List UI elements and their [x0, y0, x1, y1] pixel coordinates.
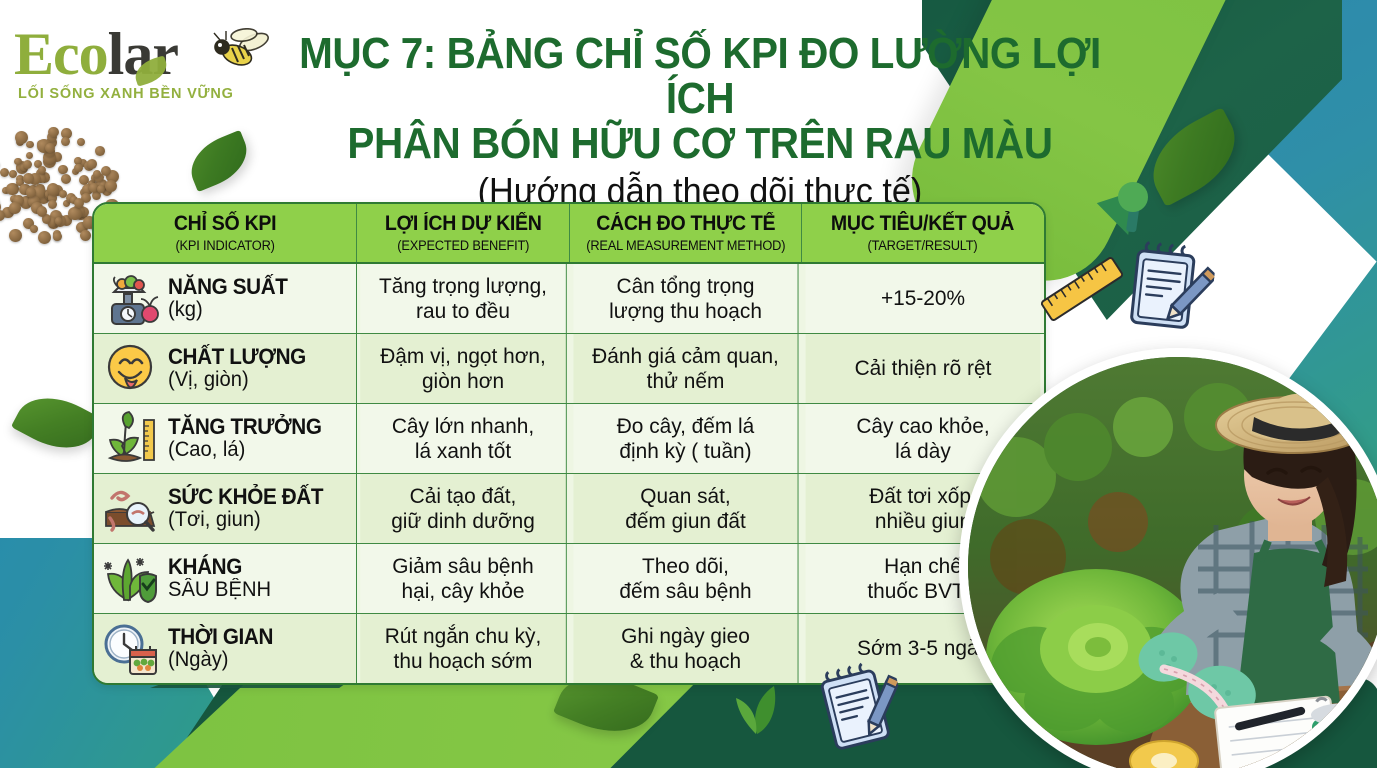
kpi-table: CHỈ SỐ KPI (KPI INDICATOR) LỢI ÍCH DỰ KI… [92, 202, 1046, 685]
column-header-kpi: CHỈ SỐ KPI (KPI INDICATOR) [94, 204, 357, 262]
scale-vegetables-icon [100, 270, 160, 328]
ruler-icon [1031, 243, 1133, 335]
target-cell: +15-20% [806, 264, 1041, 333]
page-title: MỤC 7: BẢNG CHỈ SỐ KPI ĐO LƯỜNG LỢI ÍCH … [250, 32, 1150, 210]
kpi-subtitle: (Tơi, giun) [168, 509, 326, 532]
benefit-cell: Rút ngắn chu kỳ, thu hoạch sớm [360, 614, 567, 683]
kpi-cell: NĂNG SUẤT(kg) [94, 264, 357, 333]
leaf-icon [182, 130, 255, 192]
table-row: NĂNG SUẤT(kg)Tăng trọng lượng, rau to đề… [94, 264, 1044, 334]
benefit-cell: Cải tạo đất, giữ dinh dưỡng [360, 474, 567, 543]
tasty-face-icon [100, 340, 160, 398]
column-header-sub: (TARGET/RESULT) [829, 238, 1016, 253]
title-line-2: PHÂN BÓN HỮU CƠ TRÊN RAU MÀU [286, 122, 1114, 167]
column-header-main: LỢI ÍCH DỰ KIẾN [385, 212, 542, 236]
table-row: CHẤT LƯỢNG(Vị, giòn)Đậm vị, ngọt hơn, gi… [94, 334, 1044, 404]
kpi-subtitle: (Ngày) [168, 649, 275, 672]
kpi-cell: KHÁNGSÂU BỆNH [94, 544, 357, 613]
kpi-name: TĂNG TRƯỞNG [168, 415, 322, 439]
benefit-cell: Cây lớn nhanh, lá xanh tốt [360, 404, 567, 473]
target-cell: Cải thiện rõ rệt [806, 334, 1041, 403]
table-row: SỨC KHỎE ĐẤT(Tơi, giun)Cải tạo đất, giữ … [94, 474, 1044, 544]
measure-cell: Đánh giá cảm quan, thử nếm [573, 334, 798, 403]
leaf-sprout-icon [722, 678, 792, 738]
brand-name-part1: Eco [14, 21, 108, 87]
column-header-sub: (EXPECTED BENEFIT) [383, 238, 543, 253]
column-header-sub: (KPI INDICATOR) [173, 238, 278, 253]
brand-tagline: LỐI SỐNG XANH BỀN VỮNG [14, 86, 254, 102]
kpi-name: THỜI GIAN [168, 625, 273, 649]
table-body: NĂNG SUẤT(kg)Tăng trọng lượng, rau to đề… [94, 264, 1044, 683]
measure-cell: Ghi ngày gieo & thu hoạch [573, 614, 798, 683]
column-header-target: MỤC TIÊU/KẾT QUẢ (TARGET/RESULT) [802, 204, 1044, 262]
kpi-name: CHẤT LƯỢNG [168, 345, 306, 369]
table-header-row: CHỈ SỐ KPI (KPI INDICATOR) LỢI ÍCH DỰ KI… [94, 204, 1044, 264]
column-header-main: MỤC TIÊU/KẾT QUẢ [831, 212, 1014, 236]
kpi-name: SỨC KHỎE ĐẤT [168, 485, 323, 509]
infographic-canvas: Ecolar LỐI SỐNG XANH BỀN VỮNG MỤC 7: BẢN… [0, 0, 1377, 768]
measure-cell: Quan sát, đếm giun đất [573, 474, 798, 543]
kpi-cell: SỨC KHỎE ĐẤT(Tơi, giun) [94, 474, 357, 543]
column-header-sub: (REAL MEASUREMENT METHOD) [586, 238, 785, 253]
seedling-ruler-icon [100, 410, 160, 468]
measure-cell: Đo cây, đếm lá định kỳ ( tuần) [573, 404, 798, 473]
measure-cell: Cân tổng trọng lượng thu hoạch [573, 264, 798, 333]
brand-logo[interactable]: Ecolar LỐI SỐNG XANH BỀN VỮNG [14, 24, 254, 102]
column-header-main: CHỈ SỐ KPI [174, 212, 276, 236]
kpi-name: KHÁNG [168, 555, 269, 579]
table-row: KHÁNGSÂU BỆNHGiảm sâu bệnh hại, cây khỏe… [94, 544, 1044, 614]
benefit-cell: Tăng trọng lượng, rau to đều [360, 264, 567, 333]
column-header-main: CÁCH ĐO THỰC TẾ [588, 212, 783, 236]
kpi-subtitle: (Vị, giòn) [168, 369, 309, 392]
table-row: TĂNG TRƯỞNG(Cao, lá)Cây lớn nhanh, lá xa… [94, 404, 1044, 474]
kpi-subtitle: SÂU BỆNH [168, 579, 271, 602]
kpi-subtitle: (kg) [168, 299, 290, 322]
title-line-1: MỤC 7: BẢNG CHỈ SỐ KPI ĐO LƯỜNG LỢI ÍCH [286, 32, 1114, 122]
kpi-name: NĂNG SUẤT [168, 275, 288, 299]
measure-cell: Theo dõi, đếm sâu bệnh [573, 544, 798, 613]
kpi-cell: THỜI GIAN(Ngày) [94, 614, 357, 683]
leaf-icon [11, 383, 103, 464]
column-header-benefit: LỢI ÍCH DỰ KIẾN (EXPECTED BENEFIT) [357, 204, 570, 262]
kpi-cell: CHẤT LƯỢNG(Vị, giòn) [94, 334, 357, 403]
notepad-pencil-icon [1125, 238, 1218, 336]
soil-earthworm-icon [100, 480, 160, 538]
table-row: THỜI GIAN(Ngày)Rút ngắn chu kỳ, thu hoạc… [94, 614, 1044, 683]
kpi-cell: TĂNG TRƯỞNG(Cao, lá) [94, 404, 357, 473]
column-header-measure: CÁCH ĐO THỰC TẾ (REAL MEASUREMENT METHOD… [570, 204, 802, 262]
kpi-subtitle: (Cao, lá) [168, 439, 325, 462]
benefit-cell: Đậm vị, ngọt hơn, giòn hơn [360, 334, 567, 403]
benefit-cell: Giảm sâu bệnh hại, cây khỏe [360, 544, 567, 613]
leaf-shield-icon [100, 550, 160, 608]
clock-calendar-icon [100, 620, 160, 678]
